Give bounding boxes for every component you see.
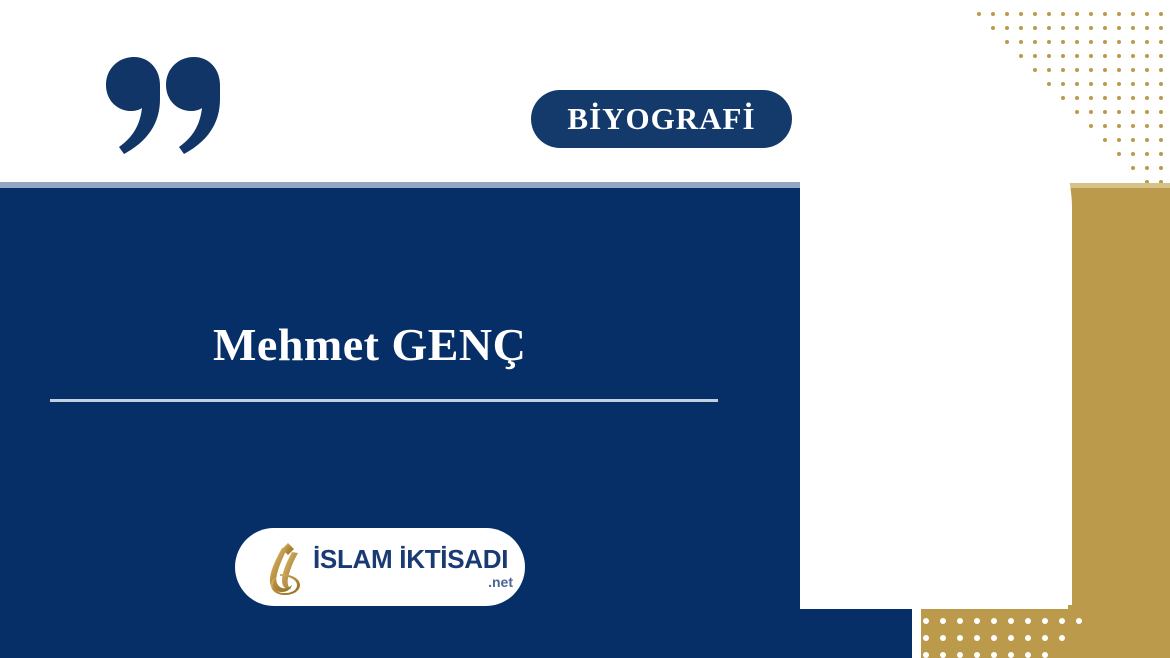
page-title: Mehmet GENÇ <box>213 318 526 371</box>
decorative-dot <box>991 12 995 16</box>
navy-bottom-panel <box>0 609 912 658</box>
decorative-dot <box>1145 166 1149 170</box>
decorative-dot <box>1089 68 1093 72</box>
decorative-dot <box>1103 12 1107 16</box>
decorative-dot <box>1061 26 1065 30</box>
decorative-dot <box>1117 40 1121 44</box>
decorative-dot <box>991 618 997 624</box>
decorative-dot <box>923 635 929 641</box>
decorative-dot <box>1117 110 1121 114</box>
decorative-dot <box>1033 54 1037 58</box>
decorative-dot <box>923 652 929 658</box>
decorative-dot <box>974 618 980 624</box>
tulip-calligraphy-icon <box>259 540 311 596</box>
decorative-dot <box>1145 96 1149 100</box>
decorative-dot <box>1159 12 1163 16</box>
decorative-dot <box>1061 12 1065 16</box>
decorative-dot <box>923 618 929 624</box>
decorative-dot <box>1089 26 1093 30</box>
decorative-dot <box>1145 12 1149 16</box>
decorative-dot <box>1103 68 1107 72</box>
decorative-dot <box>1145 152 1149 156</box>
decorative-dot <box>1103 124 1107 128</box>
decorative-dot <box>1047 12 1051 16</box>
decorative-dot <box>1075 54 1079 58</box>
decorative-dot <box>1145 82 1149 86</box>
brand-text: İSLAM İKTİSADI .net <box>313 544 519 592</box>
decorative-dot <box>1131 96 1135 100</box>
decorative-dot <box>940 618 946 624</box>
decorative-dot <box>1117 12 1121 16</box>
biography-card: BİYOGRAFİ <box>0 0 1170 658</box>
decorative-dot <box>1047 40 1051 44</box>
decorative-dot <box>1117 124 1121 128</box>
decorative-dot <box>1047 68 1051 72</box>
decorative-dot <box>1159 110 1163 114</box>
decorative-dot <box>991 26 995 30</box>
decorative-dot <box>1103 110 1107 114</box>
decorative-dot <box>1159 68 1163 72</box>
decorative-dot <box>1159 26 1163 30</box>
decorative-dot <box>1103 54 1107 58</box>
decorative-dot <box>1061 96 1065 100</box>
decorative-dot <box>1159 96 1163 100</box>
decorative-dot <box>1117 26 1121 30</box>
decorative-dot <box>1103 82 1107 86</box>
decorative-dot <box>940 652 946 658</box>
decorative-dot <box>1145 138 1149 142</box>
decorative-dot <box>1131 40 1135 44</box>
decorative-dot <box>1103 96 1107 100</box>
decorative-dot <box>1145 124 1149 128</box>
decorative-dot <box>1089 12 1093 16</box>
gold-bottom-panel <box>921 609 1170 658</box>
decorative-dot <box>1131 68 1135 72</box>
decorative-dot <box>1061 40 1065 44</box>
decorative-dot <box>1008 618 1014 624</box>
decorative-dot <box>1075 96 1079 100</box>
decorative-dot <box>1019 26 1023 30</box>
decorative-dot <box>1089 124 1093 128</box>
decorative-dot <box>1008 652 1014 658</box>
title-divider <box>50 399 718 402</box>
decorative-dot <box>1019 54 1023 58</box>
decorative-dot <box>1159 40 1163 44</box>
decorative-dot <box>1005 26 1009 30</box>
decorative-dot <box>1019 40 1023 44</box>
decorative-dot <box>1103 26 1107 30</box>
decorative-dot <box>1033 68 1037 72</box>
decorative-dot <box>1005 12 1009 16</box>
decorative-dot <box>1025 618 1031 624</box>
decorative-dot <box>1076 618 1082 624</box>
decorative-dot <box>1019 12 1023 16</box>
decorative-dot <box>1075 26 1079 30</box>
decorative-dot <box>1047 26 1051 30</box>
decorative-dot <box>1145 26 1149 30</box>
decorative-dot <box>977 12 981 16</box>
decorative-dot <box>991 652 997 658</box>
decorative-dot <box>974 652 980 658</box>
portrait-frame <box>800 78 1072 605</box>
decorative-dot <box>1159 152 1163 156</box>
category-badge-label: BİYOGRAFİ <box>567 101 755 137</box>
decorative-dot <box>957 652 963 658</box>
decorative-dot <box>1117 138 1121 142</box>
decorative-dot <box>1103 40 1107 44</box>
decorative-dot <box>1033 40 1037 44</box>
decorative-dot <box>1025 635 1031 641</box>
decorative-dot <box>1089 110 1093 114</box>
decorative-dot <box>1061 68 1065 72</box>
decorative-dot <box>957 635 963 641</box>
decorative-dot <box>1131 110 1135 114</box>
decorative-dot <box>1145 54 1149 58</box>
decorative-dot <box>1131 166 1135 170</box>
decorative-dot <box>1159 138 1163 142</box>
decorative-dot <box>1131 82 1135 86</box>
decorative-dot <box>1042 652 1048 658</box>
decorative-dot <box>957 618 963 624</box>
decorative-dot <box>1089 96 1093 100</box>
decorative-dot <box>1033 26 1037 30</box>
decorative-dot <box>1033 12 1037 16</box>
decorative-dot <box>1075 110 1079 114</box>
decorative-dot <box>1061 54 1065 58</box>
decorative-dot <box>1042 635 1048 641</box>
decorative-dot <box>1131 54 1135 58</box>
decorative-dot <box>1117 96 1121 100</box>
decorative-dot <box>1117 152 1121 156</box>
decorative-dot <box>1131 26 1135 30</box>
decorative-dot <box>1089 82 1093 86</box>
decorative-dot <box>1075 40 1079 44</box>
decorative-dot <box>1075 12 1079 16</box>
decorative-dot <box>1159 124 1163 128</box>
decorative-dot <box>1117 82 1121 86</box>
decorative-dot <box>991 635 997 641</box>
decorative-dot <box>940 635 946 641</box>
decorative-dot <box>1159 54 1163 58</box>
decorative-dot <box>1047 54 1051 58</box>
decorative-dot <box>1131 152 1135 156</box>
double-quote-icon <box>104 55 226 155</box>
decorative-dot <box>1117 68 1121 72</box>
decorative-dot <box>1131 12 1135 16</box>
decorative-dot <box>1059 618 1065 624</box>
decorative-dot <box>1089 40 1093 44</box>
brand-tld: .net <box>488 574 513 590</box>
decorative-dot <box>1061 82 1065 86</box>
decorative-dot <box>1145 68 1149 72</box>
decorative-dot <box>1117 54 1121 58</box>
decorative-dot <box>1025 652 1031 658</box>
decorative-dot <box>1159 166 1163 170</box>
category-badge[interactable]: BİYOGRAFİ <box>531 90 792 148</box>
decorative-dot <box>1042 618 1048 624</box>
decorative-dot <box>1159 82 1163 86</box>
decorative-dot <box>1089 54 1093 58</box>
decorative-dot <box>1145 110 1149 114</box>
decorative-dot <box>1075 82 1079 86</box>
decorative-dot <box>1059 635 1065 641</box>
decorative-dot <box>1008 635 1014 641</box>
gold-side-panel <box>1068 188 1170 609</box>
decorative-dot <box>1075 68 1079 72</box>
decorative-dot <box>1103 138 1107 142</box>
decorative-dot <box>1145 40 1149 44</box>
decorative-dot <box>1047 82 1051 86</box>
decorative-dot <box>974 635 980 641</box>
brand-logo[interactable]: İSLAM İKTİSADI .net <box>235 528 525 606</box>
decorative-dot <box>1131 138 1135 142</box>
decorative-dot <box>1005 40 1009 44</box>
decorative-dot <box>1131 124 1135 128</box>
brand-name: İSLAM İKTİSADI <box>313 544 508 575</box>
